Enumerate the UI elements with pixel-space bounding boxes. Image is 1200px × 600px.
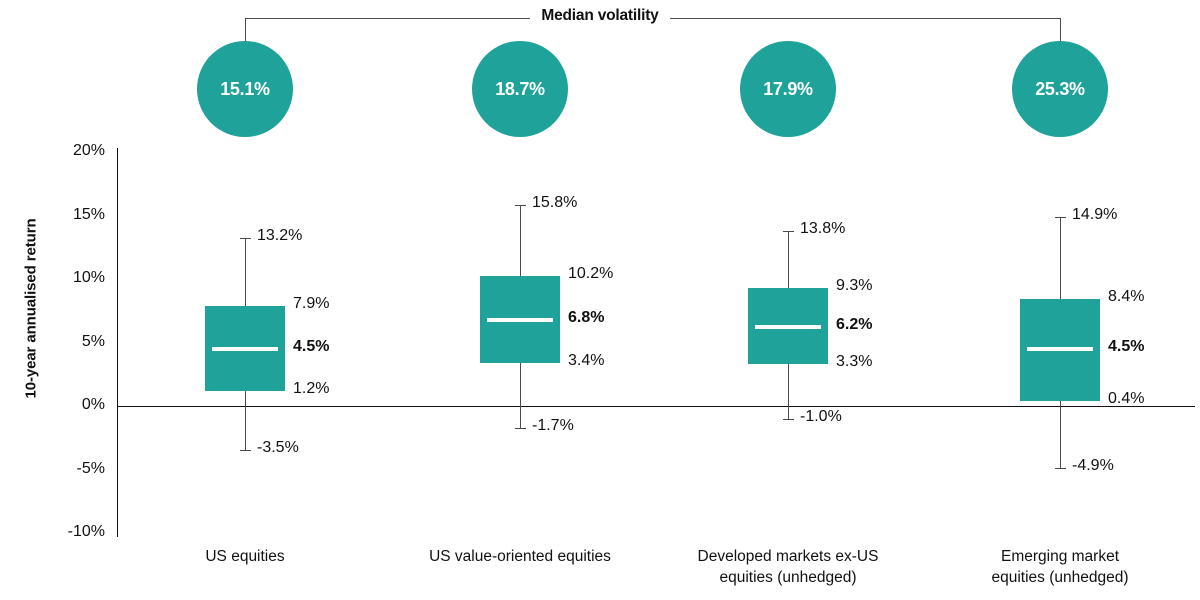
max-value-label: 13.8% xyxy=(800,220,845,238)
q3-value-label: 9.3% xyxy=(836,277,872,295)
median-volatility-circle: 25.3% xyxy=(1012,41,1108,137)
x-axis-category-label: US equities xyxy=(120,547,370,568)
median-value-label: 6.8% xyxy=(568,309,604,327)
median-line xyxy=(1027,347,1093,351)
whisker-cap-min xyxy=(515,428,526,429)
y-axis-line xyxy=(117,148,118,537)
median-line xyxy=(212,347,278,351)
chart-root: Median volatility 10-year annualised ret… xyxy=(0,0,1200,600)
x-axis-category-label: Developed markets ex-USequities (unhedge… xyxy=(663,547,913,589)
category-label-line: equities (unhedged) xyxy=(663,568,913,589)
q1-value-label: 3.4% xyxy=(568,352,604,370)
q1-value-label: 0.4% xyxy=(1108,390,1144,408)
whisker-cap-max xyxy=(783,231,794,232)
y-axis-tick-label: 10% xyxy=(10,269,105,287)
whisker-cap-max xyxy=(515,205,526,206)
category-label-line: Emerging market xyxy=(935,547,1185,568)
median-line xyxy=(487,318,553,322)
category-label-line: equities (unhedged) xyxy=(935,568,1185,589)
max-value-label: 14.9% xyxy=(1072,206,1117,224)
median-value-label: 4.5% xyxy=(293,338,329,356)
q1-value-label: 1.2% xyxy=(293,380,329,398)
q3-value-label: 8.4% xyxy=(1108,288,1144,306)
x-axis-category-label: US value-oriented equities xyxy=(395,547,645,568)
min-value-label: -1.0% xyxy=(800,408,842,426)
min-value-label: -4.9% xyxy=(1072,457,1114,475)
y-axis-title: 10-year annualised return xyxy=(23,194,40,424)
whisker-cap-min xyxy=(240,450,251,451)
min-value-label: -3.5% xyxy=(257,439,299,457)
whisker-cap-min xyxy=(1055,468,1066,469)
min-value-label: -1.7% xyxy=(532,417,574,435)
max-value-label: 13.2% xyxy=(257,227,302,245)
y-axis-tick-label: 20% xyxy=(10,142,105,160)
y-axis-tick-label: -5% xyxy=(10,460,105,478)
y-axis-tick-label: 5% xyxy=(10,333,105,351)
median-volatility-circle: 18.7% xyxy=(472,41,568,137)
category-label-line: Developed markets ex-US xyxy=(663,547,913,568)
category-label-line: US value-oriented equities xyxy=(395,547,645,568)
y-axis-tick-label: 15% xyxy=(10,206,105,224)
y-axis-tick-label: -10% xyxy=(10,523,105,541)
whisker-cap-max xyxy=(1055,217,1066,218)
y-axis-tick-label: 0% xyxy=(10,396,105,414)
whisker-cap-max xyxy=(240,238,251,239)
whisker-cap-min xyxy=(783,419,794,420)
median-value-label: 6.2% xyxy=(836,316,872,334)
max-value-label: 15.8% xyxy=(532,194,577,212)
zero-line xyxy=(117,406,1195,407)
median-line xyxy=(755,325,821,329)
q3-value-label: 7.9% xyxy=(293,295,329,313)
median-volatility-circle: 17.9% xyxy=(740,41,836,137)
x-axis-category-label: Emerging marketequities (unhedged) xyxy=(935,547,1185,589)
median-volatility-circle: 15.1% xyxy=(197,41,293,137)
q1-value-label: 3.3% xyxy=(836,353,872,371)
q3-value-label: 10.2% xyxy=(568,265,613,283)
category-label-line: US equities xyxy=(120,547,370,568)
median-value-label: 4.5% xyxy=(1108,338,1144,356)
